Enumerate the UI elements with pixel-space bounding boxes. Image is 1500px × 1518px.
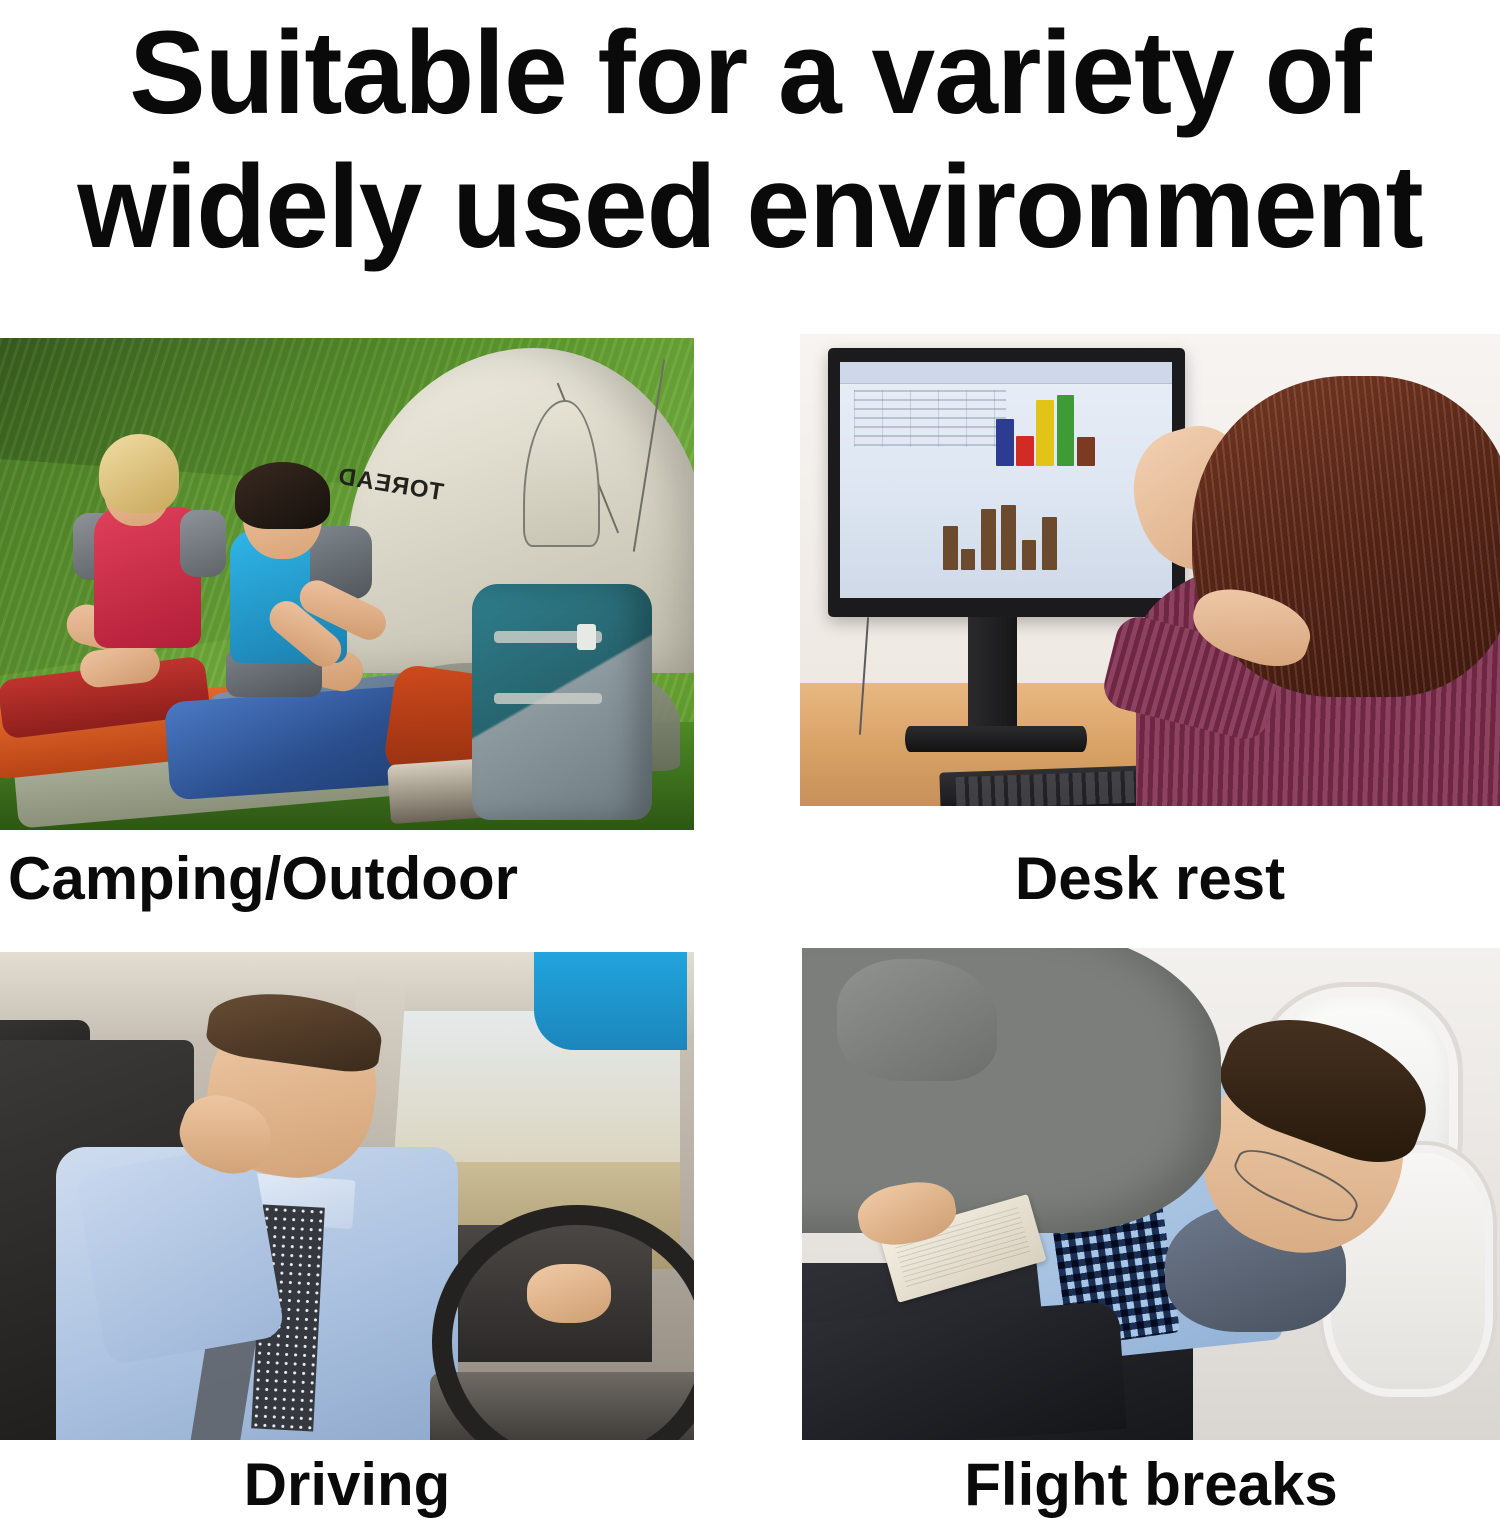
blonde-hair — [99, 434, 179, 513]
backpack-strap — [494, 693, 602, 705]
tent-door — [523, 400, 599, 547]
leg — [78, 643, 161, 688]
scenario-photo-camping: TOREAD — [0, 338, 694, 830]
caption-flight-breaks: Flight breaks — [802, 1452, 1500, 1518]
page-title: Suitable for a variety of widely used en… — [23, 6, 1478, 274]
camper-man — [222, 471, 430, 776]
caption-camping: Camping/Outdoor — [8, 846, 518, 912]
monitor-base — [905, 726, 1087, 752]
caption-desk-rest: Desk rest — [800, 846, 1500, 912]
scenario-photo-desk-rest — [800, 334, 1500, 806]
sleeve — [180, 510, 225, 577]
spreadsheet-cells — [854, 390, 1007, 447]
dark-hair — [235, 462, 331, 529]
product-feature-image: Suitable for a variety of widely used en… — [0, 0, 1500, 1500]
hand-on-wheel — [527, 1264, 610, 1323]
backpack — [472, 584, 652, 820]
lap — [802, 1301, 1127, 1440]
spreadsheet-toolbar — [840, 362, 1172, 384]
scenario-photo-driving — [0, 952, 694, 1440]
blanket-fold — [837, 959, 998, 1081]
sky-view — [534, 952, 687, 1050]
monitor — [828, 348, 1185, 617]
arm — [75, 1143, 287, 1367]
bar-chart-brown — [940, 499, 1086, 570]
caption-driving: Driving — [0, 1452, 694, 1518]
grey-blanket — [802, 948, 1221, 1233]
monitor-screen — [840, 362, 1172, 599]
monitor-stand — [968, 617, 1017, 735]
backpack-buckle — [577, 624, 597, 650]
scenario-photo-flight-breaks — [802, 948, 1500, 1440]
bar-chart-colored — [993, 395, 1113, 466]
